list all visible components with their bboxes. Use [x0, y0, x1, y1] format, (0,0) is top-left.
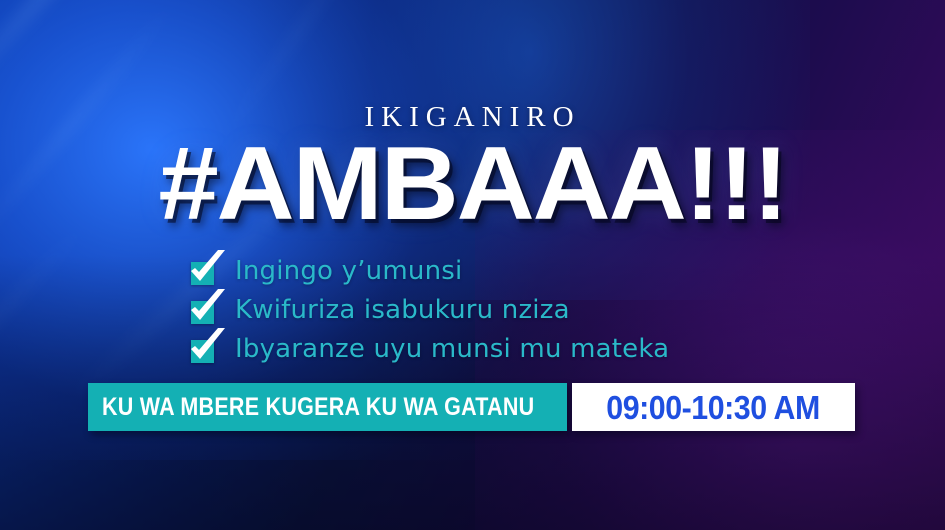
schedule-time-box: 09:00-10:30 AM: [572, 383, 855, 431]
list-item: Ingingo y’umunsi: [189, 256, 669, 286]
schedule-days-label: KU WA MBERE KUGERA KU WA GATANU: [102, 395, 534, 420]
checklist: Ingingo y’umunsi Kwifuriza isabukuru nzi…: [189, 256, 669, 364]
checkbox-square: [191, 340, 214, 363]
schedule-days-box: KU WA MBERE KUGERA KU WA GATANU: [88, 383, 567, 431]
list-item-label: Ingingo y’umunsi: [235, 258, 462, 284]
schedule-bar: KU WA MBERE KUGERA KU WA GATANU 09:00-10…: [88, 383, 855, 431]
checkbox-square: [191, 301, 214, 324]
checkbox-checked-icon: [189, 336, 217, 363]
list-item: Ibyaranze uyu munsi mu mateka: [189, 334, 669, 364]
list-item-label: Kwifuriza isabukuru nziza: [235, 297, 570, 323]
schedule-time-label: 09:00-10:30 AM: [607, 391, 820, 424]
checkbox-checked-icon: [189, 258, 217, 285]
headline-title: #AMBAAA!!!: [0, 132, 945, 236]
poster-canvas: Ikiganiro #AMBAAA!!! Ingingo y’umunsi: [0, 0, 945, 530]
checkbox-square: [191, 262, 214, 285]
list-item-label: Ibyaranze uyu munsi mu mateka: [235, 336, 669, 362]
checkbox-checked-icon: [189, 297, 217, 324]
poster-content: Ikiganiro #AMBAAA!!! Ingingo y’umunsi: [0, 0, 945, 530]
list-item: Kwifuriza isabukuru nziza: [189, 295, 669, 325]
